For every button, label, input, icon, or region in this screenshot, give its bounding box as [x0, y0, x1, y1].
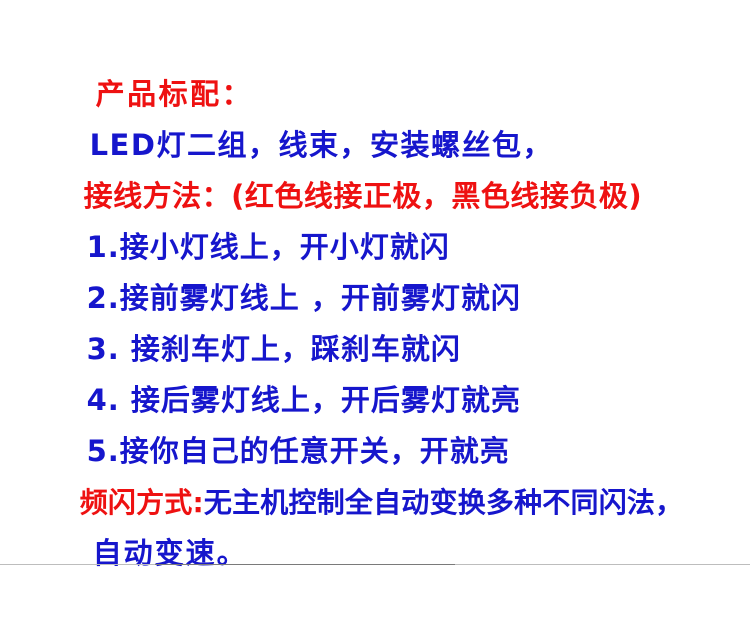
- install-option-4-text: 4. 接后雾灯线上，开后雾灯就亮: [87, 383, 521, 417]
- install-option-1-text: 1.接小灯线上，开小灯就闪: [87, 230, 450, 264]
- heading-text: 产品标配：: [96, 77, 254, 111]
- install-option-3-text: 3. 接刹车灯上，踩刹车就闪: [87, 332, 461, 366]
- heading-product-standard-config: 产品标配：: [20, 18, 750, 69]
- bottom-divider-rule-dark-segment: [155, 564, 455, 565]
- wiring-method-text: 接线方法：(红色线接正极，黑色线接负极): [84, 179, 643, 213]
- spec-text-block: 产品标配： LED灯二组，线束，安装螺丝包， 接线方法：(红色线接正极，黑色线接…: [0, 0, 750, 528]
- product-spec-sheet: 产品标配： LED灯二组，线束，安装螺丝包， 接线方法：(红色线接正极，黑色线接…: [0, 0, 750, 567]
- flash-mode-label: 频闪方式:: [80, 486, 204, 519]
- package-contents-text: LED灯二组，线束，安装螺丝包，: [90, 128, 553, 162]
- flash-mode-description: 无主机控制全自动变换多种不同闪法，: [204, 486, 683, 519]
- install-option-5-text: 5.接你自己的任意开关，开就亮: [87, 434, 510, 468]
- install-option-2-text: 2.接前雾灯线上 ，开前雾灯就闪: [87, 281, 521, 315]
